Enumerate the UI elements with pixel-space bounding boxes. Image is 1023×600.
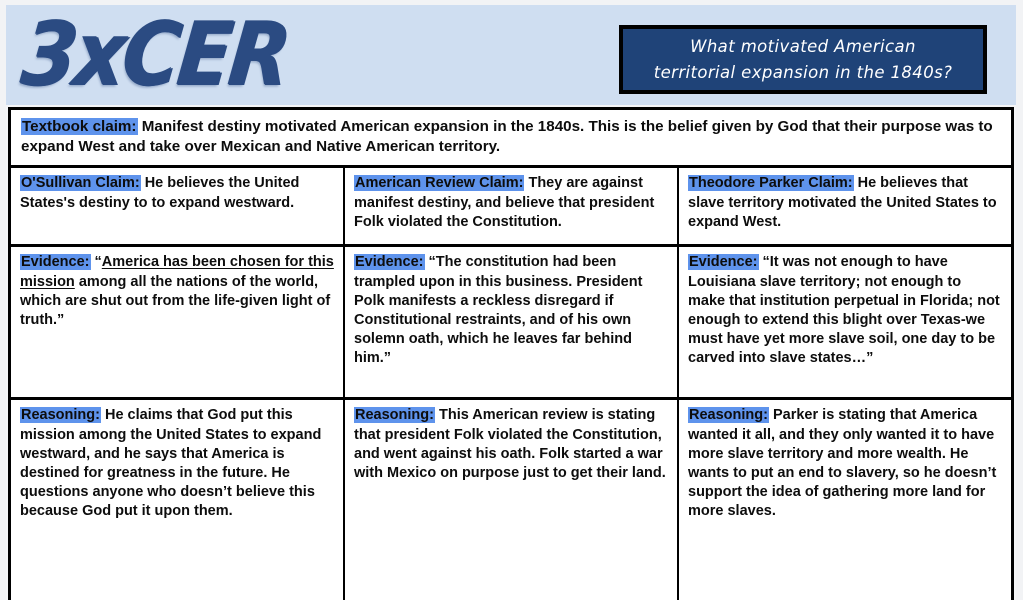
cell-evidence-osullivan: Evidence: “America has been chosen for t… bbox=[11, 247, 345, 397]
reasoning-osullivan-label: Reasoning: bbox=[20, 407, 101, 423]
reasoning-osullivan-body: He claims that God put this mission amon… bbox=[20, 407, 321, 519]
evidence-theodore-parker-text: Evidence: “It was not enough to have Lou… bbox=[688, 253, 1002, 368]
page-right-margin bbox=[1016, 0, 1023, 600]
table-row-textbook-claim: Textbook claim: Manifest destiny motivat… bbox=[11, 110, 1011, 168]
cell-evidence-american-review: Evidence: “The constitution had been tra… bbox=[345, 247, 679, 397]
claim-theodore-parker-text: Theodore Parker Claim: He believes that … bbox=[688, 174, 1002, 231]
reasoning-american-review-text: Reasoning: This American review is stati… bbox=[354, 406, 668, 483]
cer-table: Textbook claim: Manifest destiny motivat… bbox=[8, 107, 1014, 600]
logo-text: 3xCER bbox=[17, 11, 291, 98]
claim-osullivan-text: O'Sullivan Claim: He believes the United… bbox=[20, 174, 334, 212]
evidence-theodore-parker-body: “It was not enough to have Louisiana sla… bbox=[688, 254, 1000, 366]
claim-american-review-label: American Review Claim: bbox=[354, 175, 524, 191]
evidence-american-review-text: Evidence: “The constitution had been tra… bbox=[354, 253, 668, 368]
evidence-american-review-body: “The constitution had been trampled upon… bbox=[354, 254, 642, 366]
question-box: What motivated American territorial expa… bbox=[619, 25, 987, 94]
reasoning-theodore-parker-text: Reasoning: Parker is stating that Americ… bbox=[688, 406, 1002, 521]
cell-textbook-claim: Textbook claim: Manifest destiny motivat… bbox=[11, 110, 1011, 165]
evidence-osullivan-label: Evidence: bbox=[20, 254, 91, 270]
cell-reasoning-theodore-parker: Reasoning: Parker is stating that Americ… bbox=[679, 400, 1011, 600]
evidence-osullivan-lead: “ bbox=[91, 254, 102, 270]
evidence-osullivan-text: Evidence: “America has been chosen for t… bbox=[20, 253, 334, 330]
evidence-theodore-parker-label: Evidence: bbox=[688, 254, 759, 270]
cell-claim-american-review: American Review Claim: They are against … bbox=[345, 168, 679, 244]
textbook-claim-label: Textbook claim: bbox=[21, 118, 138, 135]
cell-claim-osullivan: O'Sullivan Claim: He believes the United… bbox=[11, 168, 345, 244]
cell-reasoning-osullivan: Reasoning: He claims that God put this m… bbox=[11, 400, 345, 600]
header-band: 3xCER What motivated American territoria… bbox=[6, 5, 1016, 105]
cell-evidence-theodore-parker: Evidence: “It was not enough to have Lou… bbox=[679, 247, 1011, 397]
reasoning-american-review-label: Reasoning: bbox=[354, 407, 435, 423]
table-row-reasoning: Reasoning: He claims that God put this m… bbox=[11, 400, 1011, 600]
textbook-claim-body: Manifest destiny motivated American expa… bbox=[21, 118, 993, 155]
evidence-american-review-label: Evidence: bbox=[354, 254, 425, 270]
table-row-evidence: Evidence: “America has been chosen for t… bbox=[11, 247, 1011, 400]
claim-american-review-text: American Review Claim: They are against … bbox=[354, 174, 668, 231]
worksheet-page: 3xCER What motivated American territoria… bbox=[0, 0, 1023, 600]
claim-theodore-parker-label: Theodore Parker Claim: bbox=[688, 175, 854, 191]
cell-claim-theodore-parker: Theodore Parker Claim: He believes that … bbox=[679, 168, 1011, 244]
claim-osullivan-label: O'Sullivan Claim: bbox=[20, 175, 141, 191]
textbook-claim-text: Textbook claim: Manifest destiny motivat… bbox=[21, 117, 1001, 157]
table-row-claims: O'Sullivan Claim: He believes the United… bbox=[11, 168, 1011, 247]
question-text: What motivated American territorial expa… bbox=[654, 34, 953, 85]
reasoning-osullivan-text: Reasoning: He claims that God put this m… bbox=[20, 406, 334, 521]
reasoning-theodore-parker-label: Reasoning: bbox=[688, 407, 769, 423]
logo: 3xCER bbox=[22, 7, 602, 103]
cell-reasoning-american-review: Reasoning: This American review is stati… bbox=[345, 400, 679, 600]
reasoning-theodore-parker-body: Parker is stating that America wanted it… bbox=[688, 407, 996, 519]
